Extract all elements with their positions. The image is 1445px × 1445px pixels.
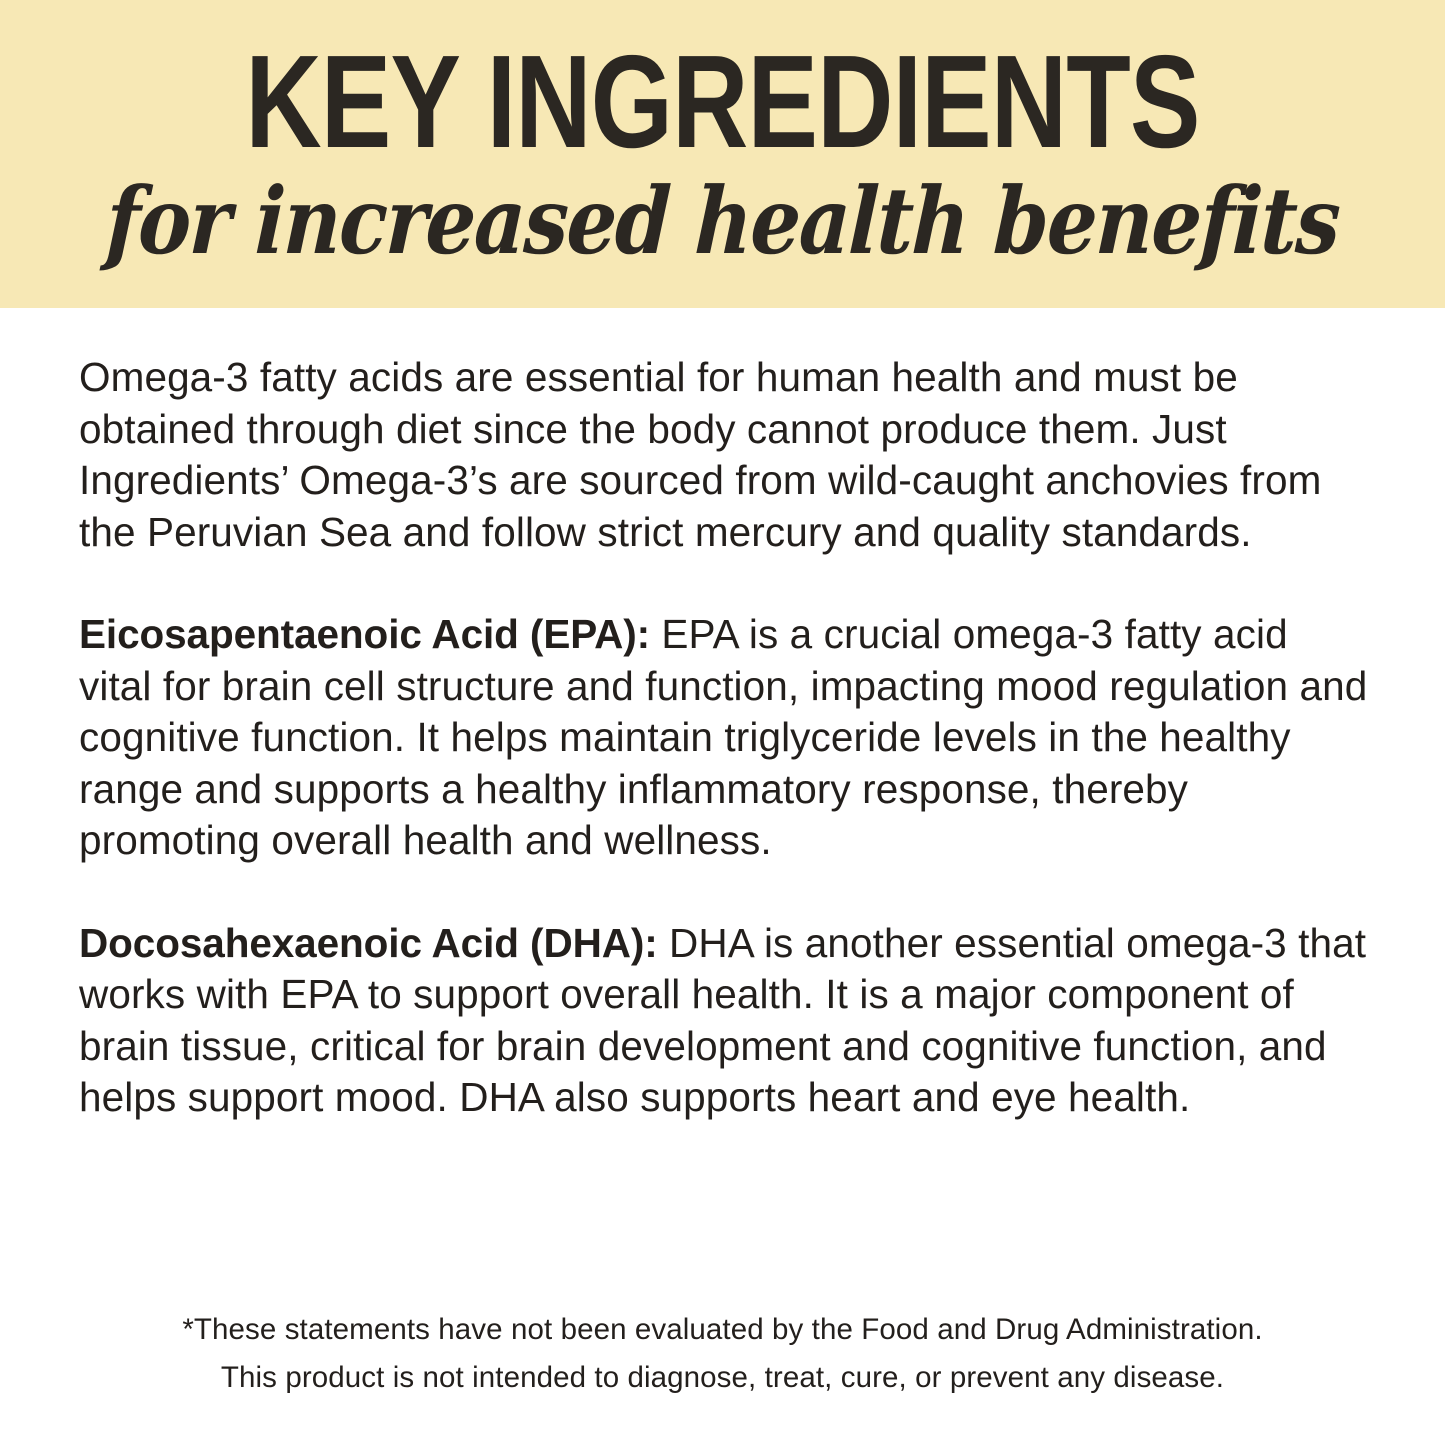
disclaimer-line-2: This product is not intended to diagnose…	[0, 1354, 1445, 1402]
paragraph-spacer	[79, 558, 1371, 609]
header-banner: KEY INGREDIENTS for increased health ben…	[0, 0, 1445, 308]
disclaimer: *These statements have not been evaluate…	[0, 1306, 1445, 1402]
page-title: KEY INGREDIENTS	[145, 36, 1301, 168]
page-subtitle: for increased health benefits	[99, 172, 1346, 270]
intro-paragraph: Omega-3 fatty acids are essential for hu…	[79, 352, 1371, 558]
key-ingredients-infographic: KEY INGREDIENTS for increased health ben…	[0, 0, 1445, 1445]
dha-lead-in: Docosahexaenoic Acid (DHA):	[79, 920, 658, 966]
disclaimer-line-1: *These statements have not been evaluate…	[0, 1306, 1445, 1354]
dha-paragraph: Docosahexaenoic Acid (DHA): DHA is anoth…	[79, 918, 1371, 1124]
body-content: Omega-3 fatty acids are essential for hu…	[79, 352, 1371, 1124]
paragraph-spacer	[79, 867, 1371, 918]
epa-lead-in: Eicosapentaenoic Acid (EPA):	[79, 611, 650, 657]
epa-paragraph: Eicosapentaenoic Acid (EPA): EPA is a cr…	[79, 609, 1371, 867]
